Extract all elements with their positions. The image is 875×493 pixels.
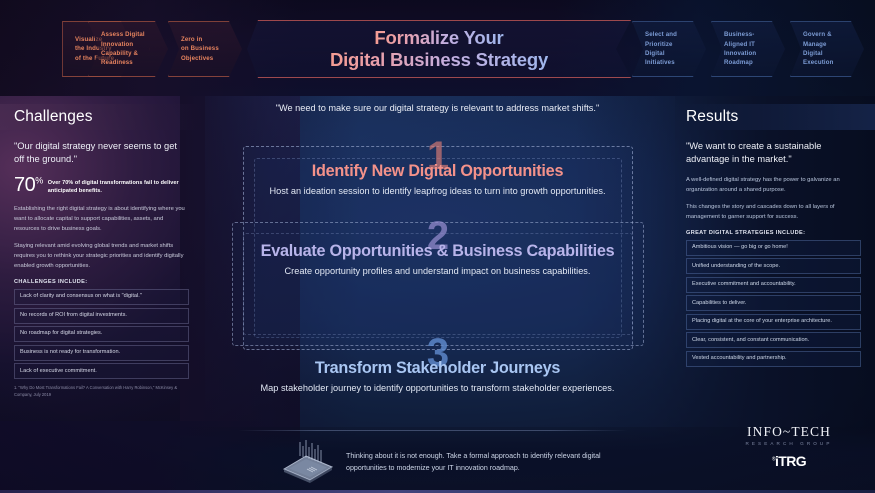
challenges-paragraph-1: Establishing the right digital strategy …: [14, 205, 189, 235]
step-1: 1 Identify New Digital Opportunities Hos…: [210, 136, 665, 170]
step-2-description: Create opportunity profiles and understa…: [210, 265, 665, 278]
step-3-title: Transform Stakeholder Journeys: [210, 359, 665, 378]
banner-step-label: Assess Digital Innovation Capability & R…: [101, 30, 145, 68]
logo-wordmark: INFO~TECH: [719, 424, 859, 440]
challenges-paragraph-2: Staying relevant amid evolving global tr…: [14, 242, 189, 272]
logo-tagline: RESEARCH GROUP: [719, 441, 859, 446]
list-item: Ambitious vision — go big or go home!: [686, 240, 861, 256]
footer-callout: Thinking about it is not enough. Take a …: [280, 440, 640, 486]
itrg-logo: ®iTRG: [719, 453, 859, 469]
banner-step-assess[interactable]: Assess Digital Innovation Capability & R…: [88, 21, 168, 77]
itrg-wordmark: iTRG: [775, 453, 806, 469]
list-item: Unified understanding of the scope.: [686, 258, 861, 274]
banner-title-line2: Digital Business Strategy: [330, 49, 548, 71]
banner-step-business-aligned[interactable]: Business- Aligned IT Innovation Roadmap: [711, 21, 785, 77]
challenges-panel: Challenges "Our digital strategy never s…: [0, 104, 203, 398]
list-item: No records of ROI from digital investmen…: [14, 308, 189, 324]
results-list-label: GREAT DIGITAL STRATEGIES INCLUDE:: [686, 230, 861, 236]
center-quote: "We need to make sure our digital strate…: [210, 102, 665, 116]
banner-step-zero-in[interactable]: Zero in on Business Objectives: [168, 21, 242, 77]
step-2: 2 Evaluate Opportunities & Business Capa…: [210, 216, 665, 250]
step-1-description: Host an ideation session to identify lea…: [210, 185, 665, 198]
microchip-icon: [280, 440, 336, 486]
challenges-body: "Our digital strategy never seems to get…: [0, 130, 203, 398]
list-item: No roadmap for digital strategies.: [14, 326, 189, 342]
results-quote: "We want to create a sustainable advanta…: [686, 140, 861, 167]
info-tech-logo: INFO~TECH RESEARCH GROUP ®iTRG: [719, 424, 859, 469]
banner-title-current-step: Formalize Your Digital Business Strategy: [247, 20, 631, 78]
challenges-statistic: 70% Over 70% of digital transformations …: [14, 176, 189, 196]
infographic-canvas: Visualize the Industry of the Future Ass…: [0, 0, 875, 493]
footer-text: Thinking about it is not enough. Take a …: [346, 451, 640, 474]
statistic-caption: Over 70% of digital transformations fail…: [48, 176, 189, 196]
challenges-quote: "Our digital strategy never seems to get…: [14, 140, 189, 167]
list-item: Placing digital at the core of your ente…: [686, 314, 861, 330]
results-paragraph-2: This changes the story and cascades down…: [686, 203, 861, 223]
banner-step-label: Govern & Manage Digital Execution: [803, 30, 833, 68]
list-item: Lack of executive commitment.: [14, 363, 189, 379]
challenges-footnote: 1. "Why Do Most Transformations Fail? A …: [14, 385, 189, 398]
list-item: Clear, consistent, and constant communic…: [686, 332, 861, 348]
list-item: Capabilities to deliver.: [686, 295, 861, 311]
center-steps: "We need to make sure our digital strate…: [210, 100, 665, 430]
banner-step-label: Zero in on Business Objectives: [181, 35, 219, 63]
percent-symbol: %: [35, 175, 43, 185]
banner-step-label: Select and Prioritize Digital Initiative…: [645, 30, 677, 68]
challenges-heading: Challenges: [0, 104, 203, 130]
challenges-list-label: CHALLENGES INCLUDE:: [14, 279, 189, 285]
results-paragraph-1: A well-defined digital strategy has the …: [686, 176, 861, 196]
statistic-value: 70%: [14, 176, 43, 195]
list-item: Business is not ready for transformation…: [14, 345, 189, 361]
footer-divider: [238, 430, 628, 431]
step-3: 3 Transform Stakeholder Journeys Map sta…: [210, 333, 665, 367]
banner-title-line1: Formalize Your: [374, 27, 503, 49]
list-item: Executive commitment and accountability.: [686, 277, 861, 293]
results-panel: Results "We want to create a sustainable…: [672, 104, 875, 369]
banner-step-label: Business- Aligned IT Innovation Roadmap: [724, 30, 756, 68]
process-banner: Visualize the Industry of the Future Ass…: [0, 0, 875, 96]
results-heading: Results: [672, 104, 875, 130]
step-2-title: Evaluate Opportunities & Business Capabi…: [210, 242, 665, 261]
step-1-title: Identify New Digital Opportunities: [210, 162, 665, 181]
list-item: Lack of clarity and consensus on what is…: [14, 289, 189, 305]
banner-step-govern-manage[interactable]: Govern & Manage Digital Execution: [790, 21, 864, 77]
step-3-description: Map stakeholder journey to identify oppo…: [210, 382, 665, 395]
results-body: "We want to create a sustainable advanta…: [672, 130, 875, 367]
list-item: Vested accountability and partnership.: [686, 351, 861, 367]
banner-step-select-prioritize[interactable]: Select and Prioritize Digital Initiative…: [632, 21, 706, 77]
